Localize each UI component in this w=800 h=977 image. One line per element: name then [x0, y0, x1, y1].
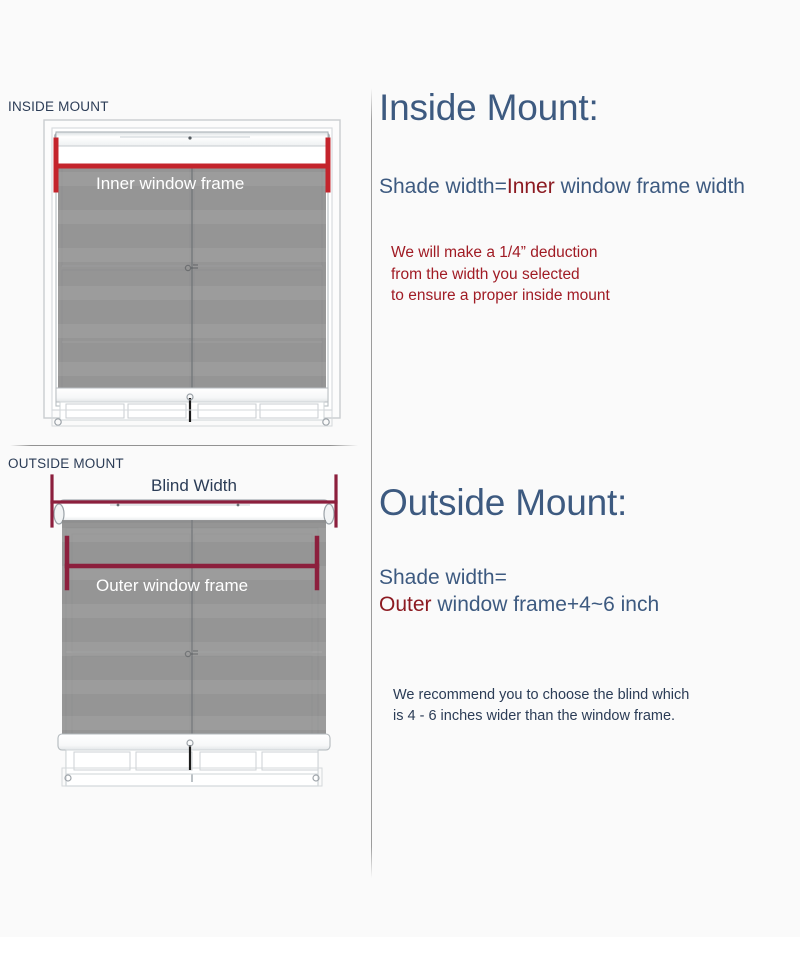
inside-mount-illustration-svg	[0, 110, 366, 440]
content-canvas: INSIDE MOUNT OUTSIDE MOUNT	[0, 0, 800, 937]
spacer	[379, 619, 797, 685]
outside-mount-formula-line-1: Shade width=	[379, 564, 797, 592]
inside-mount-formula: Shade width=Inner window frame width	[379, 173, 797, 201]
outer-window-frame-caption: Outer window frame	[96, 576, 248, 596]
blind-width-label: Blind Width	[151, 476, 237, 496]
spacer	[379, 524, 797, 564]
inside-mount-panel: Inside Mount: Shade width=Inner window f…	[379, 88, 797, 307]
outside-mount-formula-line-2: Outer window frame+4~6 inch	[379, 591, 797, 619]
inside-mount-diagram	[0, 110, 366, 440]
inside-formula-accent: Inner	[507, 175, 555, 198]
inside-note-line-1: We will make a 1/4” deduction	[391, 242, 797, 263]
spacer	[379, 129, 797, 173]
infographic-page: INSIDE MOUNT OUTSIDE MOUNT	[0, 0, 800, 977]
outside-note-line-2: is 4 - 6 inches wider than the window fr…	[393, 706, 797, 727]
spacer	[379, 200, 797, 242]
outside-mount-note: We recommend you to choose the blind whi…	[379, 685, 797, 726]
inside-mount-note: We will make a 1/4” deduction from the w…	[379, 242, 797, 306]
outside-mount-diagram	[0, 462, 366, 802]
outside-note-line-1: We recommend you to choose the blind whi…	[393, 685, 797, 706]
inside-formula-prefix: Shade width=	[379, 175, 507, 198]
explanation-column: Inside Mount: Shade width=Inner window f…	[379, 88, 797, 888]
inside-mount-heading: Inside Mount:	[379, 88, 797, 129]
vertical-divider	[371, 88, 372, 878]
outside-mount-panel: Outside Mount: Shade width= Outer window…	[379, 483, 797, 726]
outside-formula-accent: Outer	[379, 593, 432, 616]
inside-formula-suffix: window frame width	[555, 175, 745, 198]
inside-note-line-3: to ensure a proper inside mount	[391, 285, 797, 306]
inside-note-line-2: from the width you selected	[391, 264, 797, 285]
outside-formula-suffix: window frame+4~6 inch	[432, 593, 660, 616]
outside-mount-heading: Outside Mount:	[379, 483, 797, 524]
outside-mount-illustration-svg	[0, 462, 366, 802]
inner-window-frame-caption: Inner window frame	[96, 174, 244, 194]
horizontal-divider	[10, 445, 358, 446]
